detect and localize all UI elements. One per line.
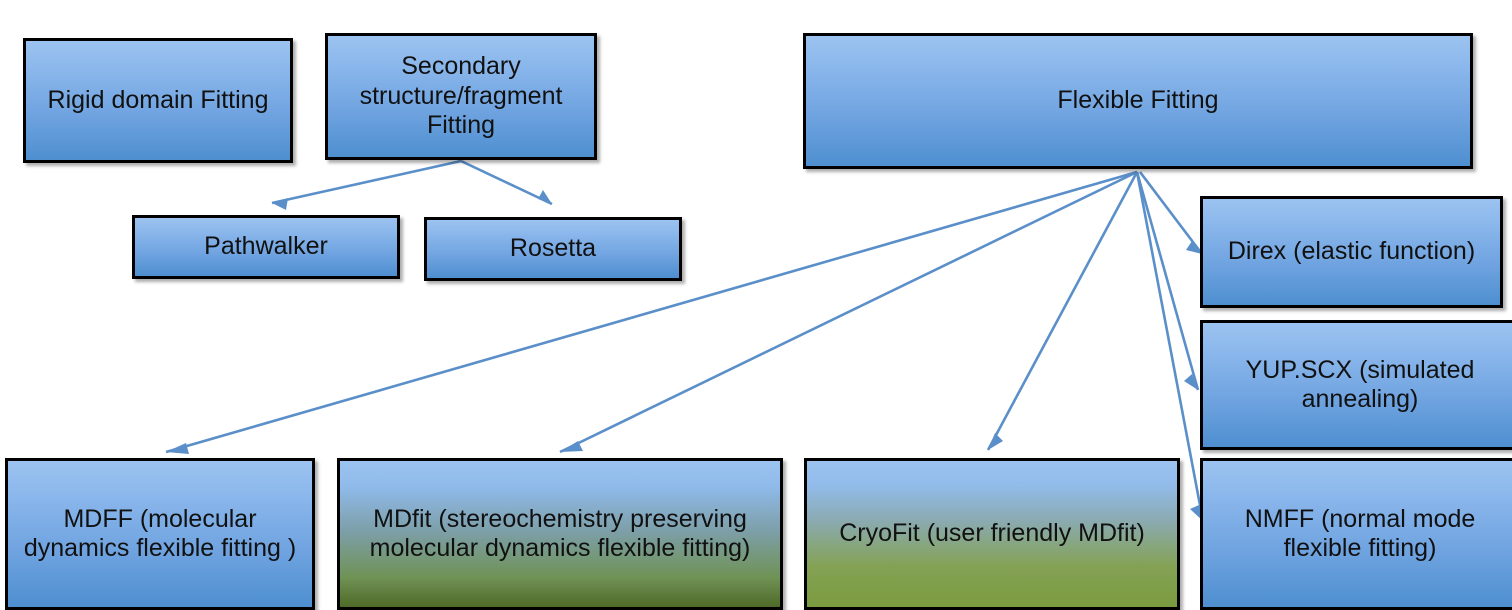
node-nmff[interactable]: NMFF (normal mode flexible fitting)	[1200, 458, 1512, 610]
node-direx[interactable]: Direx (elastic function)	[1200, 196, 1503, 308]
edge-flexible-to-direx	[1140, 172, 1202, 254]
node-mdff[interactable]: MDFF (molecular dynamics flexible fittin…	[5, 458, 315, 610]
node-label: NMFF (normal mode flexible fitting)	[1211, 505, 1509, 564]
node-mdfit[interactable]: MDfit (stereochemistry preserving molecu…	[337, 458, 783, 610]
edge-flexible-to-mdfit	[560, 172, 1137, 452]
node-label: Secondary structure/fragment Fitting	[336, 52, 586, 141]
node-label: CryoFit (user friendly MDfit)	[815, 519, 1169, 549]
node-label: Flexible Fitting	[814, 86, 1462, 116]
node-label: Pathwalker	[143, 232, 389, 262]
node-label: Rosetta	[435, 234, 671, 264]
node-label: YUP.SCX (simulated annealing)	[1211, 356, 1509, 415]
node-label: MDfit (stereochemistry preserving molecu…	[348, 505, 772, 564]
node-label: Direx (elastic function)	[1211, 237, 1492, 267]
node-label: MDFF (molecular dynamics flexible fittin…	[16, 505, 304, 564]
edge-secondary-to-rosetta	[461, 161, 552, 204]
node-pathwalker[interactable]: Pathwalker	[132, 215, 400, 279]
node-yup-scx[interactable]: YUP.SCX (simulated annealing)	[1200, 320, 1512, 450]
edge-flexible-to-yupscx	[1137, 172, 1198, 390]
node-rigid-domain-fitting[interactable]: Rigid domain Fitting	[23, 38, 293, 163]
node-label: Rigid domain Fitting	[34, 86, 282, 116]
node-rosetta[interactable]: Rosetta	[424, 217, 682, 281]
node-cryofit[interactable]: CryoFit (user friendly MDfit)	[804, 458, 1180, 610]
edge-flexible-to-cryofit	[988, 172, 1137, 450]
node-flexible-fitting[interactable]: Flexible Fitting	[803, 33, 1473, 169]
edge-secondary-to-pathwalker	[272, 161, 461, 210]
diagram-canvas: Rigid domain Fitting Secondary structure…	[0, 0, 1512, 610]
node-secondary-structure-fitting[interactable]: Secondary structure/fragment Fitting	[325, 33, 597, 160]
